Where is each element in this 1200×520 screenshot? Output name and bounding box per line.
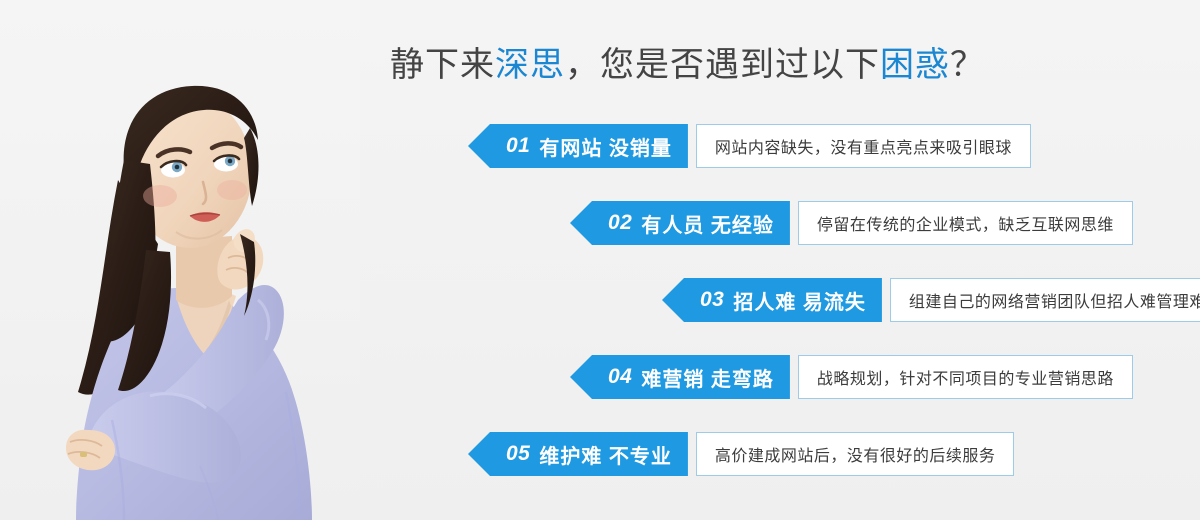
hero-photo (0, 0, 360, 520)
item-label: 03 招人难 易流失 (662, 278, 882, 322)
item-description: 高价建成网站后，没有很好的后续服务 (696, 432, 1015, 476)
item-number: 02 (608, 211, 632, 235)
item-title: 有人员 无经验 (641, 209, 774, 238)
item-label: 01 有网站 没销量 (468, 124, 688, 168)
title-part-1: 静下来 (390, 46, 495, 84)
item-number: 01 (506, 134, 530, 158)
list-item[interactable]: 02 有人员 无经验 停留在传统的企业模式，缺乏互联网思维 (570, 201, 1133, 245)
item-label: 05 维护难 不专业 (468, 432, 688, 476)
item-description: 组建自己的网络营销团队但招人难管理难 (890, 278, 1200, 322)
item-label: 04 难营销 走弯路 (570, 355, 790, 399)
item-description: 网站内容缺失，没有重点亮点来吸引眼球 (696, 124, 1031, 168)
item-number: 04 (608, 365, 632, 389)
item-title: 难营销 走弯路 (641, 363, 774, 392)
page-title: 静下来深思，您是否遇到过以下困惑？ (390, 40, 985, 90)
item-title: 维护难 不专业 (539, 440, 672, 469)
item-number: 03 (700, 288, 724, 312)
promo-banner: 静下来深思，您是否遇到过以下困惑？ 01 有网站 没销量 网站内容缺失，没有重点… (0, 0, 1200, 520)
item-number: 05 (506, 442, 530, 466)
list-item[interactable]: 03 招人难 易流失 组建自己的网络营销团队但招人难管理难 (662, 278, 1200, 322)
list-item[interactable]: 01 有网站 没销量 网站内容缺失，没有重点亮点来吸引眼球 (468, 124, 1031, 168)
list-item[interactable]: 05 维护难 不专业 高价建成网站后，没有很好的后续服务 (468, 432, 1014, 476)
title-highlight-2: 困惑 (880, 46, 950, 84)
item-description: 停留在传统的企业模式，缺乏互联网思维 (798, 201, 1133, 245)
title-part-3: ？ (950, 46, 985, 84)
item-title: 有网站 没销量 (539, 132, 672, 161)
title-highlight-1: 深思 (495, 46, 565, 84)
item-label: 02 有人员 无经验 (570, 201, 790, 245)
list-item[interactable]: 04 难营销 走弯路 战略规划，针对不同项目的专业营销思路 (570, 355, 1133, 399)
item-title: 招人难 易流失 (733, 286, 866, 315)
item-description: 战略规划，针对不同项目的专业营销思路 (798, 355, 1133, 399)
title-part-2: ，您是否遇到过以下 (565, 46, 880, 84)
